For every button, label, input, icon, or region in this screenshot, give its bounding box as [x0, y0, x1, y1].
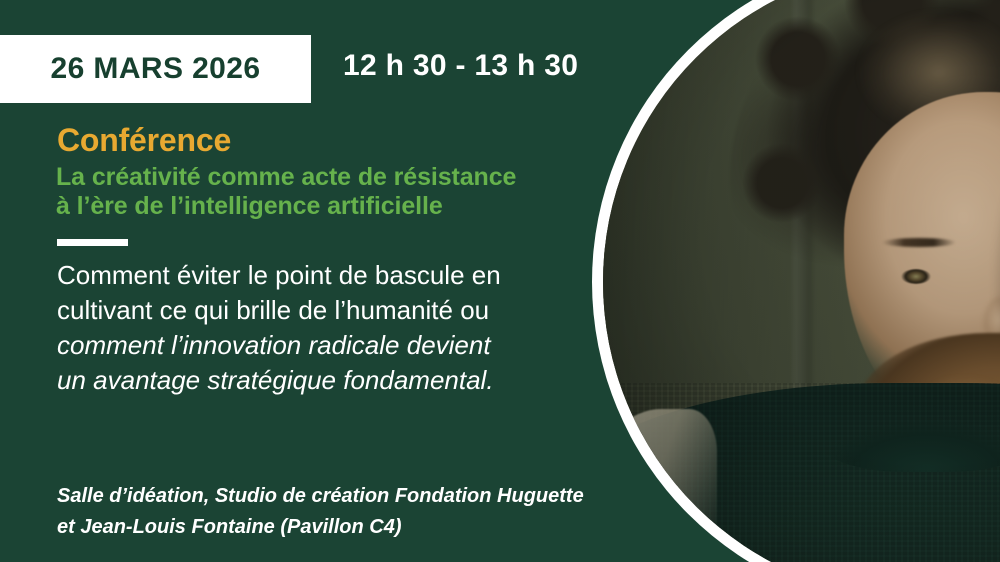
venue-text: Salle d’idéation, Studio de création Fon… [57, 481, 584, 543]
date-text: 26 MARS 2026 [51, 52, 261, 86]
poster-content: 26 MARS 2026 12 h 30 - 13 h 30 Conférenc… [0, 0, 1000, 562]
description-regular: Comment éviter le point de bascule en cu… [57, 260, 501, 325]
event-poster: 26 MARS 2026 12 h 30 - 13 h 30 Conférenc… [0, 0, 1000, 562]
event-description: Comment éviter le point de bascule en cu… [57, 258, 501, 398]
description-italic: comment l’innovation radicale devient un… [57, 328, 501, 398]
event-subtitle: La créativité comme acte de résistance à… [56, 163, 516, 221]
event-type-label: Conférence [57, 122, 231, 159]
divider-rule [57, 239, 128, 246]
date-badge: 26 MARS 2026 [0, 35, 311, 103]
time-text: 12 h 30 - 13 h 30 [343, 49, 578, 83]
